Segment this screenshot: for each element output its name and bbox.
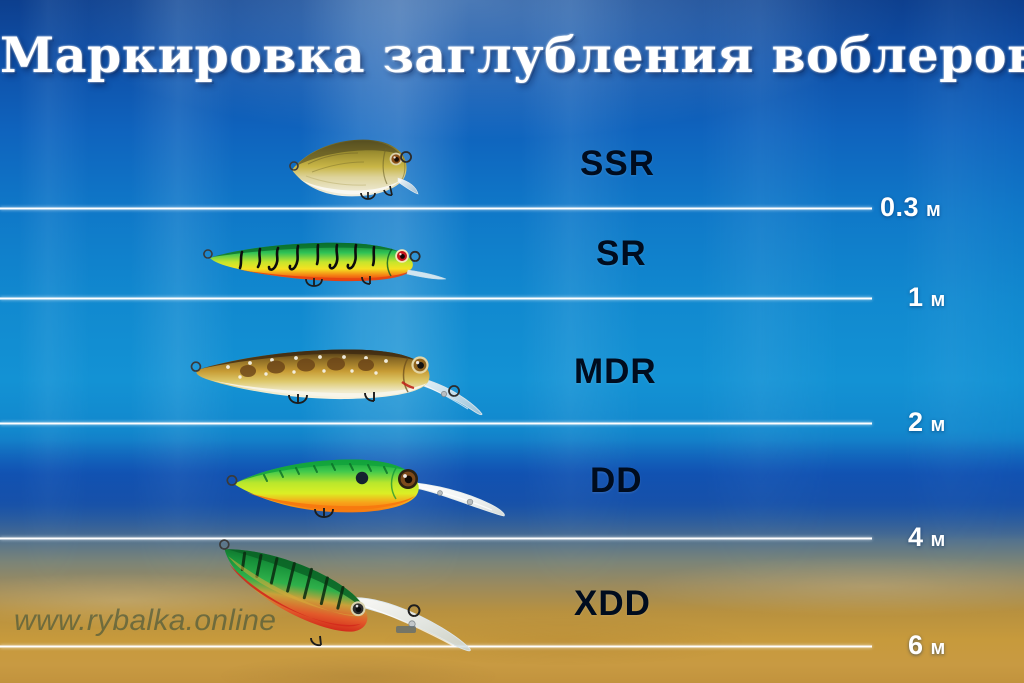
- lure-code-ssr: SSR: [580, 144, 655, 184]
- infographic-canvas: Маркировка заглубления воблеров 0.3м 1м …: [0, 0, 1024, 683]
- depth-unit-4: м: [931, 637, 946, 659]
- depth-value-1: 1: [908, 282, 924, 312]
- depth-value-2: 2: [908, 407, 924, 437]
- depth-label-2: 2м: [908, 407, 945, 438]
- lure-code-sr: SR: [596, 234, 647, 274]
- depth-unit-0: м: [926, 199, 941, 221]
- depth-label-0: 0.3м: [880, 192, 941, 223]
- depth-value-3: 4: [908, 522, 924, 552]
- depth-unit-2: м: [931, 414, 946, 436]
- depth-label-1: 1м: [908, 282, 945, 313]
- depth-line-3: [0, 537, 872, 540]
- depth-value-4: 6: [908, 630, 924, 660]
- depth-value-0: 0.3: [880, 192, 919, 222]
- site-watermark: www.rybalka.online: [14, 604, 276, 638]
- lure-code-dd: DD: [590, 461, 643, 501]
- lure-image-dd: [216, 444, 516, 528]
- lure-image-mdr: [176, 336, 516, 426]
- lure-image-ssr: [282, 126, 432, 206]
- lure-code-mdr: MDR: [574, 352, 657, 392]
- depth-unit-3: м: [931, 529, 946, 551]
- page-title: Маркировка заглубления воблеров: [0, 26, 1024, 84]
- lure-image-sr: [196, 228, 456, 298]
- depth-label-3: 4м: [908, 522, 945, 553]
- lure-code-xdd: XDD: [574, 584, 651, 624]
- depth-line-0: [0, 207, 872, 210]
- depth-unit-1: м: [931, 289, 946, 311]
- depth-label-4: 6м: [908, 630, 945, 661]
